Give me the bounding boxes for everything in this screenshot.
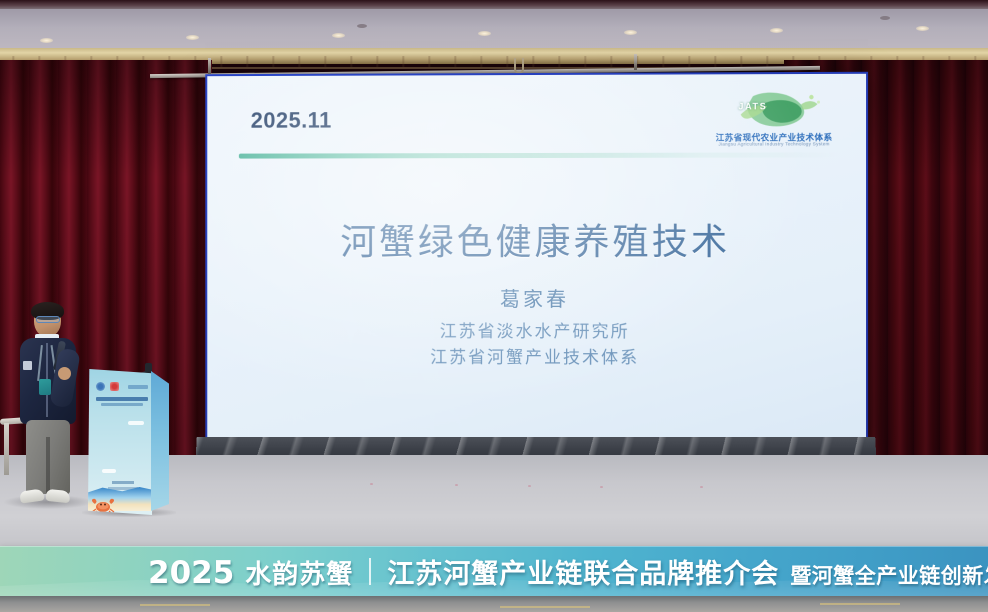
podium-logo-icon (110, 382, 119, 391)
speaker-hand (58, 367, 71, 380)
slide-date: 2025.11 (251, 108, 332, 134)
podium-microphone-icon (145, 363, 152, 373)
floor-marker (600, 486, 603, 488)
floor-marker (455, 484, 458, 486)
slide-title: 河蟹绿色健康养殖技术 (207, 213, 866, 265)
podium-side-panel (151, 371, 169, 511)
ceiling-downlight (478, 31, 491, 36)
podium-footer-line (112, 481, 134, 484)
truss-drop-rod (634, 54, 637, 70)
crab-illustration-icon (90, 495, 116, 515)
slide-affiliation-2: 江苏省河蟹产业技术体系 (207, 342, 866, 368)
jats-logo: JATS 江苏省现代农业产业技术体系 Jiangsu Agricultural … (700, 88, 847, 151)
floor-foreground-strip (0, 596, 988, 612)
banner-slogan: 水韵苏蟹 (245, 554, 353, 591)
floor-line-marking (140, 604, 210, 606)
podium-cloud-graphic (102, 469, 116, 473)
podium-cloud-graphic (128, 421, 144, 425)
conference-stage-scene: 2025.11 JATS 江苏省现代农业产业技术体系 Jiangsu Agric… (0, 0, 988, 612)
ceiling-downlight (186, 35, 199, 40)
floor-line-marking (820, 603, 900, 605)
event-banner: 2025 水韵苏蟹 江苏河蟹产业链联合品牌推介会 暨河蟹全产业链创新发展大会 (0, 546, 988, 596)
id-badge (39, 379, 51, 395)
smoke-detector-icon (880, 16, 890, 20)
slide-affiliation-1: 江苏省淡水水产研究所 (207, 317, 866, 343)
banner-text-group: 2025 水韵苏蟹 江苏河蟹产业链联合品牌推介会 暨河蟹全产业链创新发展大会 (0, 552, 988, 591)
smoke-detector-icon (357, 24, 367, 28)
ceiling-downlight (40, 38, 53, 43)
podium-logo-wordmark (128, 385, 148, 389)
glasses-icon (36, 316, 60, 323)
ceiling-downlight (624, 30, 637, 35)
floor-marker (370, 483, 373, 485)
podium-subtitle-line (101, 403, 143, 406)
podium-title-line (96, 397, 148, 401)
podium-front-panel (88, 369, 154, 515)
banner-main-title: 江苏河蟹产业链联合品牌推介会 (387, 552, 779, 591)
jats-logo-name-en: Jiangsu Agricultural Industry Technology… (700, 141, 847, 146)
banner-subtitle: 暨河蟹全产业链创新发展大会 (790, 560, 988, 590)
projection-screen-frame: 2025.11 JATS 江苏省现代农业产业技术体系 Jiangsu Agric… (205, 72, 868, 442)
floor-marker (528, 485, 531, 487)
speaker-jacket-patch (23, 361, 32, 370)
projection-screen: 2025.11 JATS 江苏省现代农业产业技术体系 Jiangsu Agric… (207, 74, 866, 440)
slide-author: 葛家春 (207, 283, 866, 313)
podium (88, 363, 170, 515)
floor-line-marking (500, 606, 590, 608)
ceiling-lip (0, 0, 988, 9)
truss-cable (514, 58, 524, 74)
jats-logo-acronym: JATS (700, 101, 805, 111)
speaker-presenter (8, 305, 88, 517)
podium-logo-icon (96, 382, 105, 391)
speaker-leg-separation (46, 437, 50, 494)
ceiling-downlight (332, 33, 345, 38)
slide-accent-rule (239, 152, 839, 158)
banner-divider (369, 558, 371, 585)
speaker-shoe-left (19, 488, 44, 503)
ceiling-downlight (770, 28, 783, 33)
ceiling-downlight (916, 26, 929, 31)
floor-marker (700, 486, 703, 488)
truss-drop-rod (208, 58, 211, 74)
banner-year: 2025 (148, 555, 234, 591)
